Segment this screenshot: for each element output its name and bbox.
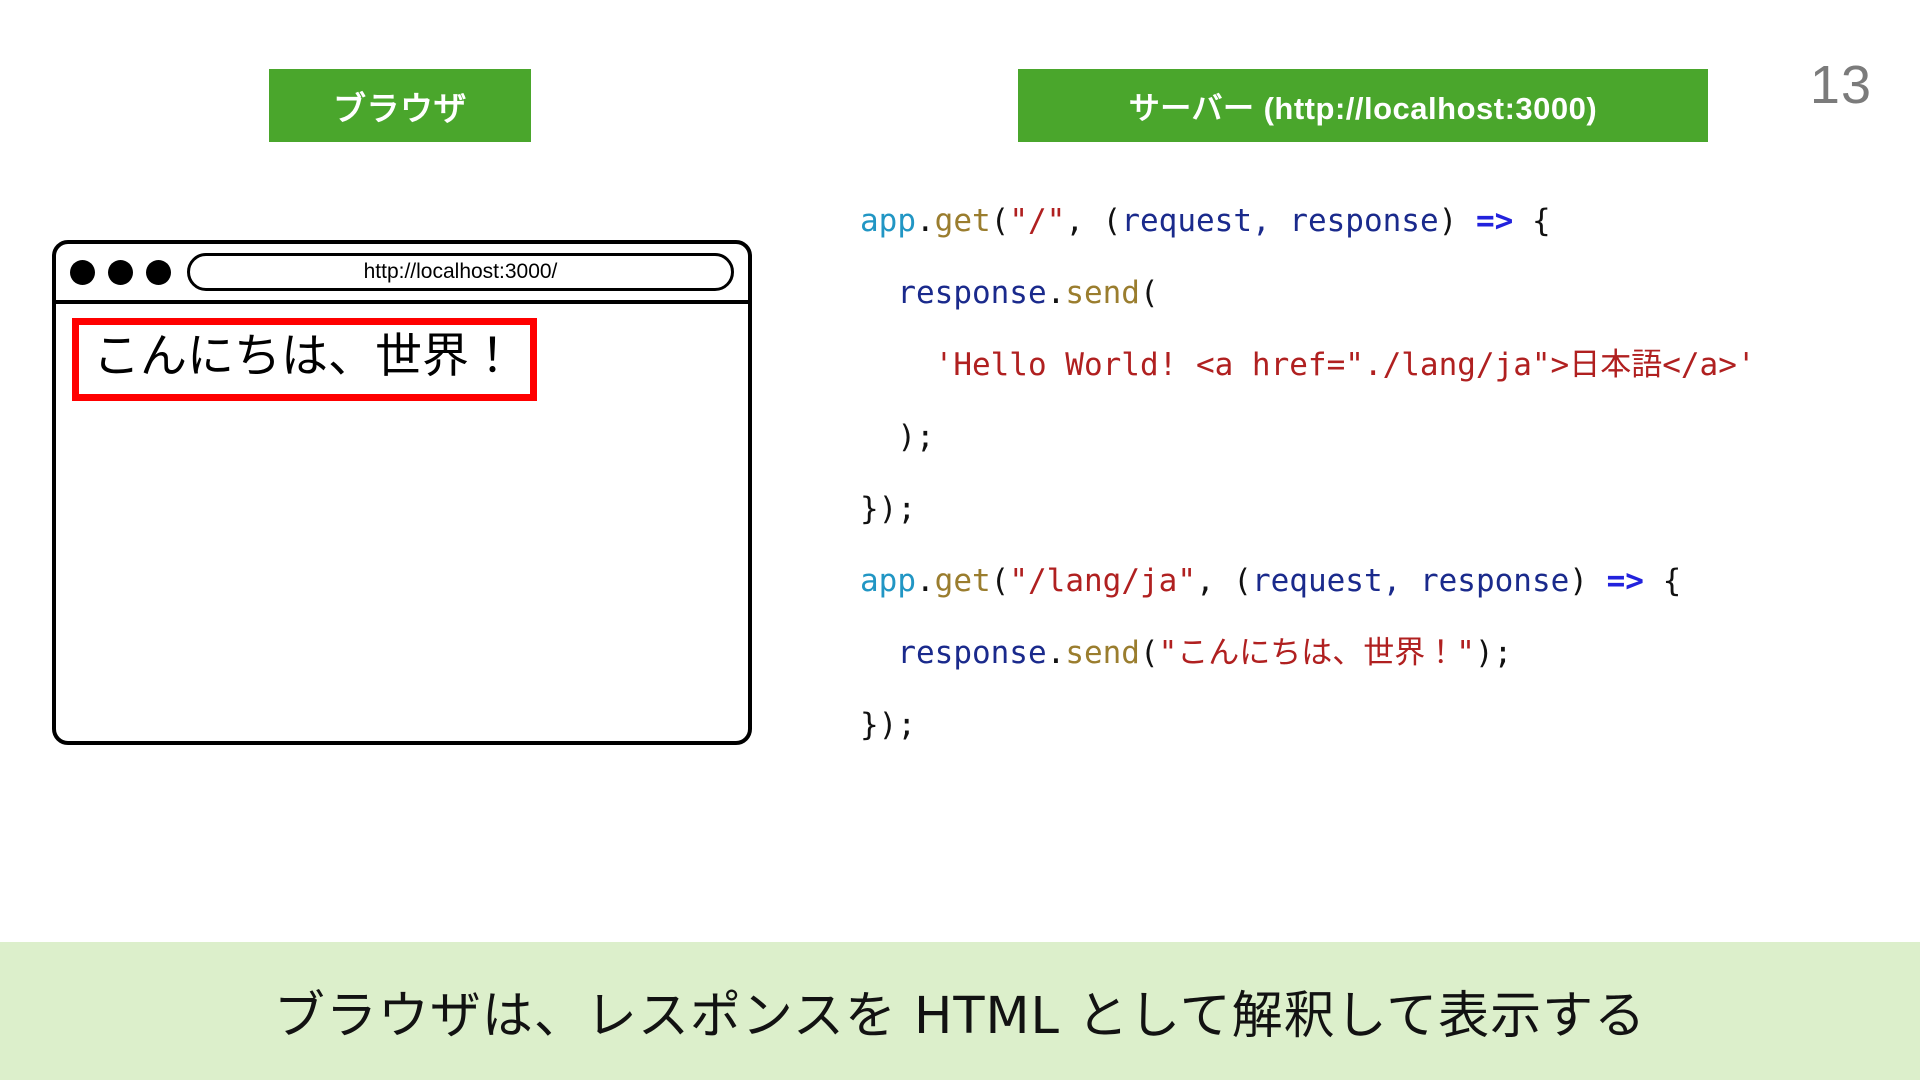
code-token: , ( [1196, 563, 1252, 599]
address-bar-url: http://localhost:3000/ [364, 260, 558, 284]
code-line: response.send( [860, 257, 1870, 329]
code-token: . [1047, 275, 1066, 311]
code-token: }); [860, 491, 916, 527]
page-number: 13 [1810, 58, 1872, 112]
code-token: "/lang/ja" [1009, 563, 1196, 599]
caption-text: ブラウザは、レスポンスを HTML として解釈して表示する [274, 974, 1646, 1048]
badge-browser: ブラウザ [269, 69, 531, 142]
code-token: request, response [1121, 203, 1438, 239]
code-token: }); [860, 707, 916, 743]
code-token: ( [1140, 275, 1159, 311]
window-dot-icon [146, 260, 171, 285]
code-token: response [897, 635, 1046, 671]
code-token: send [1065, 635, 1140, 671]
code-token: "/" [1009, 203, 1065, 239]
code-line: }); [860, 689, 1870, 761]
code-token: . [916, 203, 935, 239]
code-token: get [935, 563, 991, 599]
badge-server: サーバー (http://localhost:3000) [1018, 69, 1708, 142]
code-token: ( [991, 203, 1010, 239]
code-token: ) [1569, 563, 1606, 599]
code-token [860, 275, 897, 311]
code-token: ); [1475, 635, 1512, 671]
window-dot-icon [70, 260, 95, 285]
window-dot-icon [108, 260, 133, 285]
badge-browser-label: ブラウザ [333, 82, 467, 130]
code-token: . [1047, 635, 1066, 671]
code-line: response.send("こんにちは、世界！"); [860, 617, 1870, 689]
code-token: ) [1439, 203, 1476, 239]
browser-window-mockup: http://localhost:3000/ こんにちは、世界！ [52, 240, 752, 745]
code-token: ); [860, 419, 935, 455]
code-line: }); [860, 473, 1870, 545]
code-token: => [1476, 203, 1513, 239]
code-token [860, 347, 935, 383]
badge-server-label: サーバー (http://localhost:3000) [1129, 83, 1597, 128]
code-line: ); [860, 401, 1870, 473]
code-token: "こんにちは、世界！" [1159, 635, 1475, 671]
code-token: { [1644, 563, 1681, 599]
code-token: , ( [1065, 203, 1121, 239]
rendered-content-highlight: こんにちは、世界！ [72, 318, 537, 401]
code-token: ( [991, 563, 1010, 599]
code-token [860, 635, 897, 671]
code-token: { [1513, 203, 1550, 239]
browser-viewport: こんにちは、世界！ [56, 304, 748, 741]
caption-band: ブラウザは、レスポンスを HTML として解釈して表示する [0, 942, 1920, 1080]
code-token: . [916, 563, 935, 599]
code-token: ( [1140, 635, 1159, 671]
code-token: response [897, 275, 1046, 311]
code-token: app [860, 563, 916, 599]
code-token: send [1065, 275, 1140, 311]
server-code-block: app.get("/", (request, response) => { re… [860, 185, 1870, 761]
code-line: app.get("/", (request, response) => { [860, 185, 1870, 257]
window-control-dots [70, 260, 171, 285]
code-token: 'Hello World! <a href="./lang/ja">日本語</a… [935, 347, 1756, 383]
code-token: app [860, 203, 916, 239]
code-line: 'Hello World! <a href="./lang/ja">日本語</a… [860, 329, 1870, 401]
code-token: get [935, 203, 991, 239]
browser-chrome: http://localhost:3000/ [56, 244, 748, 304]
code-line: app.get("/lang/ja", (request, response) … [860, 545, 1870, 617]
code-token: request, response [1252, 563, 1569, 599]
address-bar[interactable]: http://localhost:3000/ [187, 253, 734, 291]
rendered-page-text: こんにちは、世界！ [93, 329, 516, 384]
code-token: => [1607, 563, 1644, 599]
